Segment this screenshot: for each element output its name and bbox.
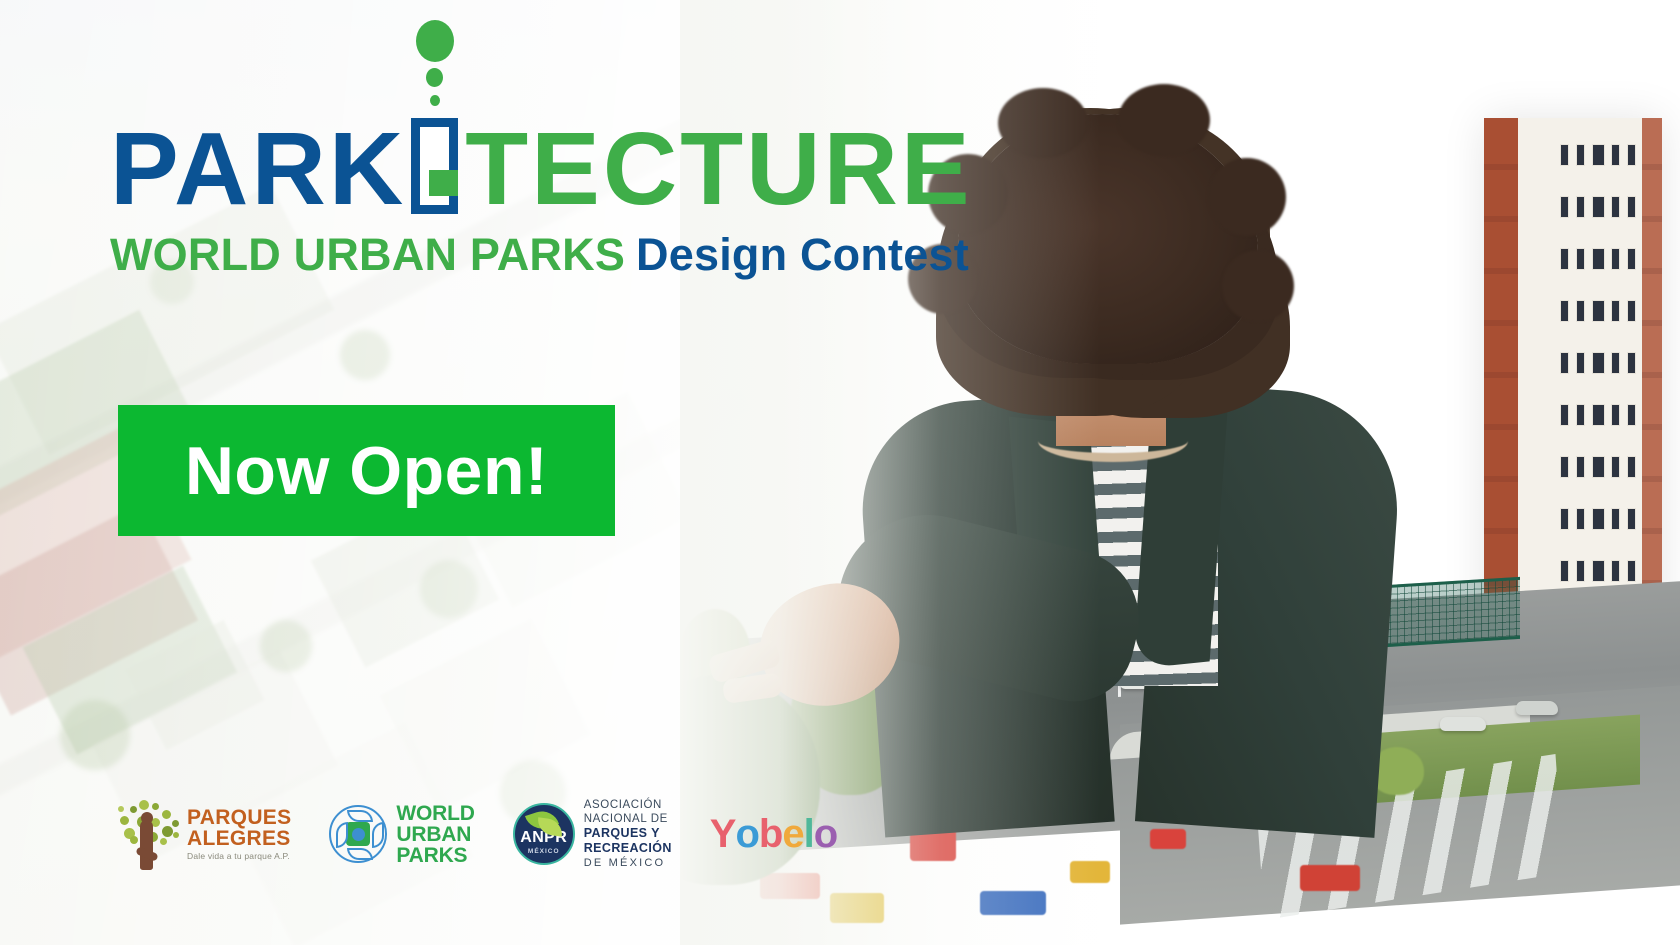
yobelo-letter-5: o <box>814 812 837 857</box>
anpr-line1: ASOCIACIÓN <box>584 798 672 812</box>
partner-name-line2: ALEGRES <box>187 828 291 849</box>
partner-name-line3: PARKS <box>396 845 474 866</box>
parkitecture-promo-banner: PARK TECTURE WORLD URBAN PARKS Design Co… <box>0 0 1680 945</box>
subtitle-contest: Design Contest <box>636 232 969 277</box>
logo-anpr-mexico[interactable]: ANPR MÉXICO ASOCIACIÓN NACIONAL DE PARQU… <box>513 798 672 870</box>
anpr-leaf-badge-icon: ANPR MÉXICO <box>513 803 575 865</box>
subtitle-organisation: WORLD URBAN PARKS <box>110 232 625 277</box>
anpr-country: MÉXICO <box>528 848 560 855</box>
subtitle: WORLD URBAN PARKS Design Contest <box>110 232 973 277</box>
yobelo-letter-2: b <box>759 812 782 857</box>
now-open-button[interactable]: Now Open! <box>118 405 615 536</box>
partner-name-line2: URBAN <box>396 824 474 845</box>
partner-name-line1: WORLD <box>396 803 474 824</box>
yobelo-letter-0: Y <box>710 812 736 857</box>
page-title: PARK TECTURE <box>110 118 973 214</box>
yobelo-letter-4: l <box>804 812 814 857</box>
logo-parques-alegres[interactable]: PARQUES ALEGRES Dale vida a tu parque A.… <box>118 798 291 870</box>
logo-world-urban-parks[interactable]: WORLD URBAN PARKS <box>329 803 474 866</box>
tree-person-icon <box>118 798 182 870</box>
anpr-line5: DE MÉXICO <box>584 857 672 870</box>
partner-name-line1: PARQUES <box>187 807 291 828</box>
i-park-pin-icon <box>411 118 458 214</box>
anpr-line2: NACIONAL DE <box>584 812 672 826</box>
yobelo-letter-1: o <box>735 812 758 857</box>
logo-yobelo[interactable]: Yobelo <box>710 812 837 857</box>
partner-tagline: Dale vida a tu parque A.P. <box>187 852 291 861</box>
anpr-line4: RECREACIÓN <box>584 841 672 856</box>
title-park: PARK <box>110 125 406 214</box>
anpr-line3: PARQUES Y <box>584 826 672 841</box>
title-tecture: TECTURE <box>465 125 972 214</box>
globe-leaf-icon <box>329 805 387 863</box>
now-open-label: Now Open! <box>185 432 548 510</box>
yobelo-letter-3: e <box>782 812 803 857</box>
partner-logo-strip: PARQUES ALEGRES Dale vida a tu parque A.… <box>118 798 837 870</box>
headline-block: PARK TECTURE WORLD URBAN PARKS Design Co… <box>110 118 973 277</box>
